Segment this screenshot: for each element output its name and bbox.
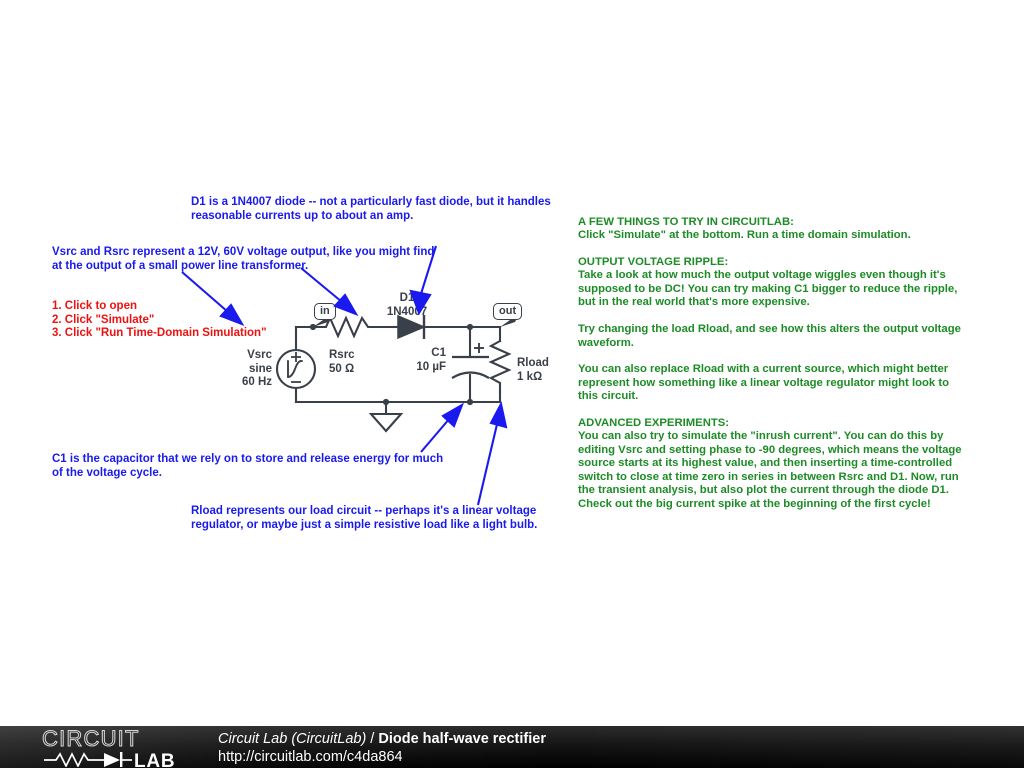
sidebar-note-2-heading: OUTPUT VOLTAGE RIPPLE: [578, 256, 978, 270]
schematic-canvas: in out Vsrc sine 60 Hz Rsrc 50 Ω D1 1N40… [0, 0, 1024, 768]
circuitlab-logo[interactable]: CIRCUIT LAB [42, 727, 192, 767]
footer-url[interactable]: http://circuitlab.com/c4da864 [218, 748, 546, 766]
sidebar-note-4-body: You can also replace Rload with a curren… [578, 363, 978, 404]
annotation-source-note: Vsrc and Rsrc represent a 12V, 60V volta… [52, 246, 452, 273]
footer-author: Circuit Lab (CircuitLab) [218, 731, 366, 747]
ground-symbol [371, 414, 401, 431]
rsrc-label: Rsrc 50 Ω [329, 349, 399, 376]
sidebar-note-5-heading: ADVANCED EXPERIMENTS: [578, 417, 978, 431]
svg-text:LAB: LAB [134, 751, 175, 767]
footer-circuit-title: Diode half-wave rectifier [378, 731, 546, 747]
svg-text:CIRCUIT: CIRCUIT [42, 727, 140, 751]
annotation-capacitor-note: C1 is the capacitor that we rely on to s… [52, 453, 472, 480]
annotation-load-note: Rload represents our load circuit -- per… [191, 505, 571, 532]
sidebar-note-3-body: Try changing the load Rload, and see how… [578, 323, 978, 350]
capacitor-symbol [452, 357, 489, 378]
d1-label: D1 1N4007 [372, 292, 442, 319]
sidebar-note-5-body: You can also try to simulate the "inrush… [578, 430, 978, 512]
logo-diode-icon [104, 752, 132, 767]
sidebar-note-2-body: Take a look at how much the output volta… [578, 269, 978, 310]
annotation-steps: 1. Click to open 2. Click "Simulate" 3. … [52, 300, 352, 341]
sidebar-note-1-body: Click "Simulate" at the bottom. Run a ti… [578, 229, 978, 243]
footer-separator: / [366, 731, 378, 747]
footer-title-line: Circuit Lab (CircuitLab) / Diode half-wa… [218, 730, 546, 748]
source-plus-sign [291, 352, 301, 362]
annotation-diode-note: D1 is a 1N4007 diode -- not a particular… [191, 196, 581, 223]
vsrc-label: Vsrc sine 60 Hz [226, 349, 272, 390]
capacitor-plus-sign [474, 343, 484, 353]
rload-label: Rload 1 kΩ [517, 357, 587, 384]
sidebar-note-1-heading: A FEW THINGS TO TRY IN CIRCUITLAB: [578, 216, 978, 230]
c1-label: C1 10 µF [392, 347, 446, 374]
sine-source-symbol [288, 361, 302, 377]
footer-text: Circuit Lab (CircuitLab) / Diode half-wa… [218, 730, 546, 766]
node-label-out[interactable]: out [493, 303, 522, 320]
